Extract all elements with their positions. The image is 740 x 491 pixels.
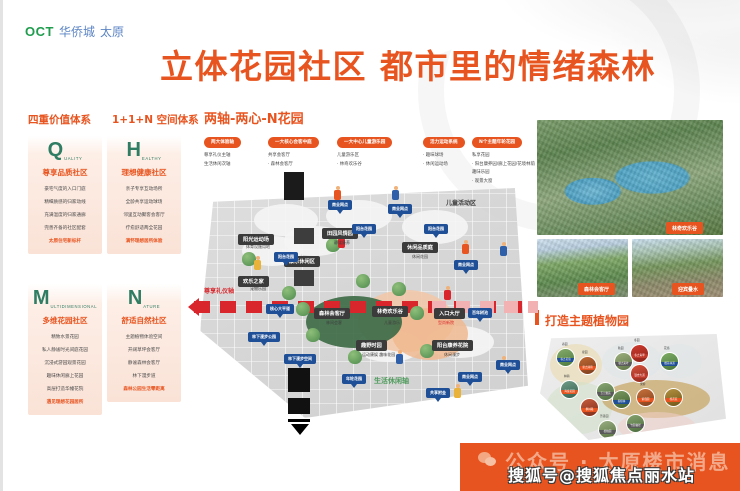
map-poi-label[interactable]: 森林会客厅 <box>314 308 350 319</box>
map-poi-sublabel: 体育设施用地 <box>246 244 270 250</box>
card-item: 疗愈舒适两全花园 <box>110 222 178 235</box>
card-letter-row: HEALTHY <box>107 136 181 161</box>
plant-circle[interactable]: 香樟林 <box>612 390 631 409</box>
heading-axis-system: 两轴-两心-N花园 <box>204 108 304 127</box>
card-title: 舒适自然社区 <box>107 315 181 326</box>
map-pin[interactable]: 核心大平道 <box>266 304 294 314</box>
heading-plant-garden: 打造主题植物园 <box>545 312 629 329</box>
card-item: 豪宅气度的入口门庭 <box>31 183 99 196</box>
card-letter-row: MULTIDIMENSIONAL <box>28 284 102 309</box>
map-poi-label[interactable]: 阳台康养花院 <box>432 340 473 351</box>
plant-zone-title: 果岭 <box>640 382 646 386</box>
plant-zone-title: 春园 <box>562 342 568 346</box>
card-english: ATURE <box>143 304 160 309</box>
card-item: 精细质感的归家动线 <box>31 196 99 209</box>
legend-item: · 林奇欢乐谷 <box>337 161 392 170</box>
map-road-mid <box>294 228 314 244</box>
heading-space-system: 1+1+N 空间体系 <box>112 112 199 127</box>
wechat-bubble-front <box>485 457 496 466</box>
legend-item-list: 共享会客厅 · 森林会客厅 <box>268 152 319 169</box>
map-road-mid-2 <box>294 270 314 286</box>
plant-circle-label: 紫薇园 <box>637 398 654 402</box>
card-item-highlight: 太原住宅新标杆 <box>31 235 99 248</box>
legend-item: 生活休闲次轴 <box>204 161 241 170</box>
map-area-note-children: 儿童活动区 <box>446 198 476 207</box>
card-letter: N <box>128 288 142 308</box>
legend-item: 共享会客厅 <box>268 152 319 161</box>
map-tree-icon <box>306 328 320 342</box>
map-poi-sublabel: 休闲漫步 <box>444 352 460 358</box>
map-pin[interactable]: 商业网点 <box>496 360 520 370</box>
map-poi-sublabel: 型尚新院 <box>438 320 454 326</box>
map-pin[interactable]: 商业网点 <box>454 260 478 270</box>
map-pin[interactable]: 百年树池 <box>468 308 492 318</box>
plant-zone-title: 林荫 <box>564 374 570 378</box>
plant-circle-label: 樱花林道 <box>661 362 678 366</box>
legend-item: · 森林会客厅 <box>268 161 319 170</box>
photo-tag-main: 林奇欢乐谷 <box>666 222 703 234</box>
card-letter: Q <box>48 140 64 160</box>
page-title: 立体花园社区 都市里的情绪森林 <box>160 40 620 88</box>
card-item: 趣味休闲廊上花园 <box>31 370 99 383</box>
plant-zone-title: 秋园 <box>618 346 624 350</box>
ceremony-axis-arrow-icon <box>188 298 199 316</box>
map-person-figure <box>454 384 461 398</box>
card-english: ULTIDIMENSIONAL <box>51 304 98 309</box>
card-item: 主题植物体验空间 <box>110 331 178 344</box>
map-direction-arrow-icon <box>291 424 309 435</box>
plant-circle[interactable]: 竹影幽径 <box>626 414 645 433</box>
card-item: 邻里互动聚客会客厅 <box>110 209 178 222</box>
plant-circle[interactable]: 银杏大道 <box>630 364 649 383</box>
leisure-axis-label: 生活休闲轴 <box>374 376 409 386</box>
legend-badge: N个主题年轮花园 <box>472 137 522 148</box>
card-item: 开阔草坪会客厅 <box>110 344 178 357</box>
legend-item-list: · 趣味球场 · 休闲运动场 <box>423 152 465 169</box>
axis-legend-group-2: 一大核心会客中庭 共享会客厅 · 森林会客厅 <box>268 130 319 169</box>
plant-circle-label: 银杏大道 <box>631 374 648 378</box>
plant-circle[interactable]: 桂花苑 <box>664 388 683 407</box>
plant-circle-label: 香樟林 <box>613 400 630 404</box>
map-person-figure <box>254 256 261 270</box>
map-pin[interactable]: 阳台花园 <box>274 252 298 262</box>
card-item: 全龄共享运动球场 <box>110 196 178 209</box>
plant-circle-label: 竹影幽径 <box>627 424 644 428</box>
map-pin[interactable]: 阳台花园 <box>352 224 376 234</box>
legend-badge: 活力运动系统 <box>423 137 465 148</box>
plant-circle[interactable]: 海棠花园 <box>560 380 579 399</box>
heading-value-system: 四重价值体系 <box>28 112 91 127</box>
map-pin[interactable]: 林下漫步空间 <box>284 354 316 364</box>
map-pin[interactable]: 商业网点 <box>328 200 352 210</box>
value-card-healthy: HEALTHY 理想健康社区 亲子专享互动场所 全龄共享运动球场 邻里互动聚客会… <box>107 136 181 254</box>
legend-item: 趣味乐园 <box>472 169 535 178</box>
legend-item: 儿童游乐区 <box>337 152 392 161</box>
map-tree-icon <box>282 286 296 300</box>
map-pin[interactable]: 年轮花园 <box>342 374 366 384</box>
card-item: 私人静谧时光间庭花园 <box>31 344 99 357</box>
legend-item-list: 尊享礼仪主轴 生活休闲次轴 <box>204 152 241 169</box>
plant-circle-label: 松柏园 <box>599 430 616 434</box>
map-road-north <box>284 172 304 200</box>
map-poi-label[interactable]: 林奇欢乐谷 <box>372 306 408 317</box>
plant-zone-title: 芳香园 <box>600 414 608 418</box>
page-left-border <box>0 0 3 491</box>
card-item: 静谧森林会客厅 <box>110 357 178 370</box>
map-direction-bar <box>288 419 310 422</box>
map-poi-sublabel: 休闲花园 <box>412 254 428 260</box>
logo-oct-text: OCT <box>25 24 54 39</box>
map-person-figure <box>392 186 399 200</box>
card-item: 高层打造华幢花院 <box>31 383 99 396</box>
axis-legend-group-4: 活力运动系统 · 趣味球场 · 休闲运动场 <box>423 130 465 169</box>
photo-texture <box>537 120 723 235</box>
legend-item: 尊享礼仪主轴 <box>204 152 241 161</box>
legend-item: · 趣味球场 <box>423 152 465 161</box>
plant-circle[interactable]: 冬之青翠 <box>630 344 649 363</box>
map-poi-label[interactable]: 休闲品质庭 <box>402 242 438 253</box>
ceremony-axis-label: 尊享礼仪轴 <box>204 286 234 295</box>
card-item: 精致水景花园 <box>31 331 99 344</box>
card-item-list: 主题植物体验空间 开阔草坪会客厅 静谧森林会客厅 林下漫步道 森林公园生活零距离 <box>107 331 181 402</box>
logo-chinese-text: 华侨城 <box>59 23 95 40</box>
map-poi-sublabel: 宠物乐园 <box>250 286 266 292</box>
card-item: 林下漫步道 <box>110 370 178 383</box>
legend-badge: 一大中心儿童游乐园 <box>337 137 392 148</box>
map-person-figure <box>462 240 469 254</box>
map-pin[interactable]: 商业网点 <box>458 372 482 382</box>
card-item-list: 豪宅气度的入口门庭 精细质感的归家动线 充满温度的归家通廊 完善齐备的社区配套 … <box>28 183 102 254</box>
wechat-icon <box>478 452 498 468</box>
card-item: 充满温度的归家通廊 <box>31 209 99 222</box>
plant-circle-label: 海棠花园 <box>561 390 578 394</box>
site-plan-map[interactable]: 尊享礼仪轴 生活休闲轴 儿童活动区 阳光运动场 体育设施用地 欢乐之家 宠物乐园… <box>196 178 536 440</box>
legend-item: 私享花园 <box>472 152 535 161</box>
card-item-list: 亲子专享互动场所 全龄共享运动球场 邻里互动聚客会客厅 疗愈舒适两全花园 满怀理… <box>107 183 181 254</box>
map-pin[interactable]: 共享附金 <box>426 388 450 398</box>
legend-badge: 两大体验轴 <box>204 137 241 148</box>
card-letter-row: NATURE <box>107 284 181 309</box>
map-tree-icon <box>410 306 424 320</box>
axis-legend-group-1: 两大体验轴 尊享礼仪主轴 生活休闲次轴 <box>204 130 241 169</box>
axis-legend-group-3: 一大中心儿童游乐园 儿童游乐区 · 林奇欢乐谷 <box>337 130 392 169</box>
map-poi-sublabel: 儿童游乐 <box>384 320 400 326</box>
map-road-south-2 <box>288 398 310 414</box>
map-tree-icon <box>356 274 370 288</box>
map-person-figure <box>500 242 507 256</box>
value-card-quality: QUALITY 尊享品质社区 豪宅气度的入口门庭 精细质感的归家动线 充满温度的… <box>28 136 102 254</box>
plant-circle-label: 春之花境 <box>557 358 574 362</box>
plant-circle[interactable]: 紫薇园 <box>636 388 655 407</box>
legend-badge: 一大核心会客中庭 <box>268 137 319 148</box>
map-pin[interactable]: 林下漫步公园 <box>248 332 280 342</box>
legend-item-list: 儿童游乐区 · 林奇欢乐谷 <box>337 152 392 169</box>
map-poi-sublabel: 林间会客 <box>326 320 342 326</box>
plant-circle[interactable]: 樱花林道 <box>660 352 679 371</box>
map-person-figure <box>334 186 341 200</box>
plant-zone-title: 夏园 <box>582 350 588 354</box>
card-english: UALITY <box>64 156 82 161</box>
map-pin[interactable]: 商业网点 <box>388 204 412 214</box>
value-card-multidimensional: MULTIDIMENSIONAL 多维花园社区 精致水景花园 私人静谧时光间庭花… <box>28 284 102 415</box>
plant-circle[interactable]: 夏之绿荫 <box>578 356 597 375</box>
logo-city-text: 太原 <box>100 23 124 40</box>
legend-item: · 休闲运动场 <box>423 161 465 170</box>
photo-forest-valley[interactable] <box>537 120 723 235</box>
map-tree-icon <box>392 282 406 296</box>
card-letter: H <box>126 140 140 160</box>
plant-circle-label: 玉兰雅苑 <box>597 392 614 396</box>
plant-circle-label: 夏之绿荫 <box>579 366 596 370</box>
theme-plant-garden-map[interactable]: 春之花境 夏之绿荫 秋之彩叶 冬之青翠 樱花林道 银杏大道 海棠花园 玉兰雅苑 … <box>540 334 726 440</box>
photo-tag-left: 森林会客厅 <box>578 283 615 295</box>
card-item: 沉浸式游园观景花园 <box>31 357 99 370</box>
plant-circle-label: 秋之彩叶 <box>615 362 632 366</box>
plant-zone-title: 花境 <box>664 346 670 350</box>
watermark-sohu-line: 搜狐号@搜狐焦点丽水站 <box>508 462 695 486</box>
brand-logo: OCT 华侨城 太原 <box>25 18 124 44</box>
legend-item: · 阳台康养园/廊上花园/花境林荫 <box>472 161 535 170</box>
card-title: 理想健康社区 <box>107 167 181 178</box>
map-poi-sublabel: 运动康娱 趣味花园 <box>362 352 395 358</box>
map-person-figure <box>396 350 403 364</box>
card-item: 完善齐备的社区配套 <box>31 222 99 235</box>
card-letter: M <box>33 288 50 308</box>
value-card-nature: NATURE 舒适自然社区 主题植物体验空间 开阔草坪会客厅 静谧森林会客厅 林… <box>107 284 181 402</box>
plant-circle-label: 冬之青翠 <box>631 354 648 358</box>
plant-circle[interactable]: 松柏园 <box>598 420 617 439</box>
card-title: 尊享品质社区 <box>28 167 102 178</box>
plant-zone-title: 冬园 <box>634 338 640 342</box>
plant-circle[interactable]: 春之花境 <box>556 348 575 367</box>
map-road-south <box>288 368 310 392</box>
map-poi-sublabel: 静谧康养 <box>334 240 350 246</box>
photo-tag-right: 迎宾叠水 <box>672 283 704 295</box>
card-item: 亲子专享互动场所 <box>110 183 178 196</box>
map-tree-icon <box>296 302 310 316</box>
card-title: 多维花园社区 <box>28 315 102 326</box>
card-item-highlight: 满怀理想居所体验 <box>110 235 178 248</box>
map-pin[interactable]: 阳台花园 <box>424 224 448 234</box>
map-poi-label[interactable]: 入口大厅 <box>434 308 465 319</box>
card-item-highlight: 遇见理想花园居所 <box>31 396 99 409</box>
plant-circle[interactable]: 枫林路 <box>580 398 599 417</box>
plant-circle-label: 枫林路 <box>581 408 598 412</box>
map-poi-label[interactable]: 趣野时园 <box>356 340 387 351</box>
plant-circle-label: 桂花苑 <box>665 398 682 402</box>
card-letter-row: QUALITY <box>28 136 102 161</box>
card-item-highlight: 森林公园生活零距离 <box>110 383 178 396</box>
map-tree-icon <box>348 350 362 364</box>
map-person-figure <box>444 286 451 300</box>
card-english: EALTHY <box>142 156 162 161</box>
card-item-list: 精致水景花园 私人静谧时光间庭花园 沉浸式游园观景花园 趣味休闲廊上花园 高层打… <box>28 331 102 415</box>
